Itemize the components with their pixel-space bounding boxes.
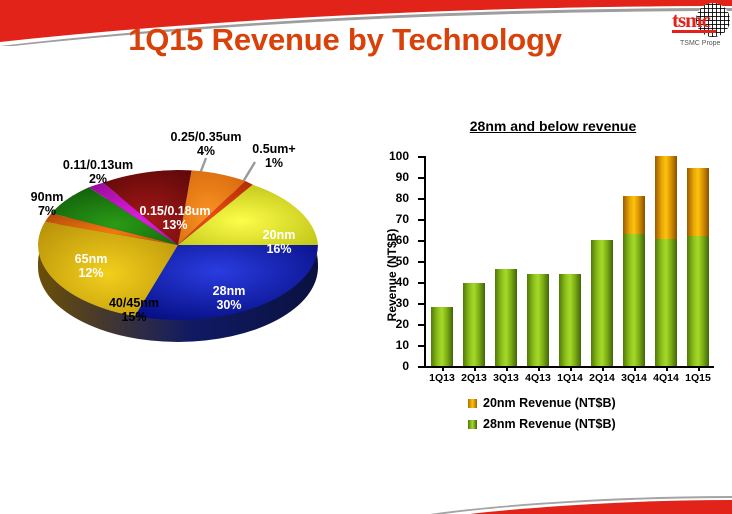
chart-legend: 20nm Revenue (NT$B) 28nm Revenue (NT$B) <box>468 396 728 438</box>
bar-chart-title: 28nm and below revenue <box>398 118 708 134</box>
bar-segment-28nm[interactable] <box>687 236 709 366</box>
x-tick <box>538 366 540 371</box>
y-tick-label: 10 <box>396 338 409 352</box>
bar-segment-28nm[interactable] <box>495 269 517 366</box>
bar-column[interactable] <box>591 156 613 366</box>
x-tick <box>698 366 700 371</box>
y-tick: 80 <box>418 198 424 200</box>
bar-chart-panel: 28nm and below revenue Revenue (NT$B) 10… <box>358 118 732 448</box>
x-tick <box>634 366 636 371</box>
legend-swatch-20nm-icon <box>468 399 477 408</box>
bar-segment-28nm[interactable] <box>463 283 485 366</box>
y-tick-label: 70 <box>396 212 409 226</box>
y-tick-label: 90 <box>396 170 409 184</box>
x-tick <box>442 366 444 371</box>
bar-segment-20nm[interactable] <box>623 196 645 234</box>
y-tick-label: 30 <box>396 296 409 310</box>
y-tick: 70 <box>418 219 424 221</box>
y-tick: 100 <box>418 156 424 158</box>
pie-label-015-018um: 0.15/0.18um 13% <box>120 204 230 232</box>
y-tick-label: 80 <box>396 191 409 205</box>
y-tick: 20 <box>418 324 424 326</box>
bar-column[interactable] <box>495 156 517 366</box>
y-tick-label: 60 <box>396 233 409 247</box>
bar-column[interactable] <box>623 156 645 366</box>
pie-label-65nm: 65nm 12% <box>56 252 126 280</box>
bar-column[interactable] <box>655 156 677 366</box>
bar-column[interactable] <box>559 156 581 366</box>
y-tick: 90 <box>418 177 424 179</box>
x-tick <box>570 366 572 371</box>
pie-label-40-45nm: 40/45nm 15% <box>88 296 180 324</box>
bar-segment-28nm[interactable] <box>655 239 677 366</box>
pie-label-011-013um: 0.11/0.13um 2% <box>40 158 156 186</box>
y-tick: 10 <box>418 345 424 347</box>
legend-item-20nm: 20nm Revenue (NT$B) <box>468 396 728 410</box>
y-tick-label: 100 <box>389 149 409 163</box>
bar-column[interactable] <box>463 156 485 366</box>
x-tick <box>602 366 604 371</box>
logo-underline <box>672 30 716 33</box>
pie-chart-panel: 90nm 7% 0.11/0.13um 2% 0.25/0.35um 4% 0.… <box>0 100 360 400</box>
bar-segment-20nm[interactable] <box>655 156 677 239</box>
bar-segment-28nm[interactable] <box>559 274 581 366</box>
x-tick <box>666 366 668 371</box>
pie-label-90nm: 90nm 7% <box>12 190 82 218</box>
x-tick <box>506 366 508 371</box>
bar-segment-28nm[interactable] <box>623 234 645 366</box>
bar-column[interactable] <box>527 156 549 366</box>
y-tick-label: 20 <box>396 317 409 331</box>
pie-label-05um-plus: 0.5um+ 1% <box>240 142 308 170</box>
bar-segment-20nm[interactable] <box>687 168 709 236</box>
y-tick: 40 <box>418 282 424 284</box>
bar-segment-28nm[interactable] <box>431 307 453 366</box>
bar-column[interactable] <box>431 156 453 366</box>
legend-label-20nm: 20nm Revenue (NT$B) <box>483 396 616 410</box>
y-tick: 50 <box>418 261 424 263</box>
y-tick-label: 40 <box>396 275 409 289</box>
bar-segment-28nm[interactable] <box>591 240 613 366</box>
bar-series-group <box>426 156 714 366</box>
bar-segment-28nm[interactable] <box>527 274 549 366</box>
bar-plot-area: 1009080706050403020100 <box>424 156 714 368</box>
logo-caption: TSMC Prope <box>680 40 720 47</box>
x-tick-label: 1Q15 <box>678 372 718 384</box>
legend-label-28nm: 28nm Revenue (NT$B) <box>483 417 616 431</box>
bar-column[interactable] <box>687 156 709 366</box>
bottom-banner-swoosh <box>0 454 732 514</box>
y-tick-label: 0 <box>402 359 409 373</box>
y-tick: 60 <box>418 240 424 242</box>
pie-label-20nm: 20nm 16% <box>244 228 314 256</box>
y-tick: 30 <box>418 303 424 305</box>
tsmc-logo: tsmc TSMC Prope <box>668 2 732 54</box>
legend-item-28nm: 28nm Revenue (NT$B) <box>468 417 728 431</box>
page-title: 1Q15 Revenue by Technology <box>0 22 690 58</box>
x-tick <box>474 366 476 371</box>
pie-label-28nm: 28nm 30% <box>194 284 264 312</box>
y-tick-label: 50 <box>396 254 409 268</box>
slide: 1Q15 Revenue by Technology tsmc TSMC Pro… <box>0 0 732 514</box>
legend-swatch-28nm-icon <box>468 420 477 429</box>
